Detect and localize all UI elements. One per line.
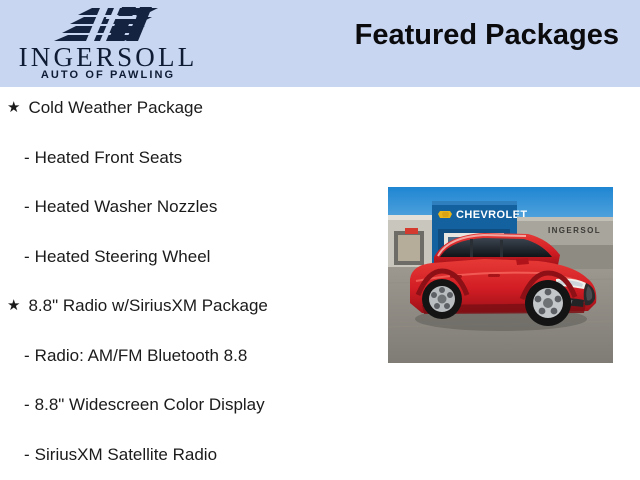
vehicle-photo[interactable]: CHEVROLET INGERSOL	[388, 187, 613, 363]
feature-label: Heated Front Seats	[35, 146, 182, 170]
brand-logo[interactable]: INGERSOLL AUTO OF PAWLING	[0, 0, 215, 87]
feature-label: 8.8" Widescreen Color Display	[35, 393, 265, 417]
dash-bullet-icon: -	[24, 443, 30, 467]
svg-text:CHEVROLET: CHEVROLET	[456, 209, 527, 221]
dash-bullet-icon: -	[24, 195, 30, 219]
feature-label: 8.8" Radio w/SiriusXM Package	[28, 294, 267, 318]
feature-label: SiriusXM Satellite Radio	[35, 443, 217, 467]
package-feature-item: -Heated Washer Nozzles	[24, 195, 217, 219]
package-feature-item: -Heated Front Seats	[24, 146, 182, 170]
package-feature-item: -SiriusXM Satellite Radio	[24, 443, 217, 467]
dash-bullet-icon: -	[24, 146, 30, 170]
ingersoll-wing-emblem-icon	[48, 6, 166, 42]
feature-label: Cold Weather Package	[28, 96, 203, 120]
feature-label: Heated Washer Nozzles	[35, 195, 218, 219]
dash-bullet-icon: -	[24, 245, 30, 269]
package-feature-item: -Radio: AM/FM Bluetooth 8.8	[24, 344, 247, 368]
feature-label: Heated Steering Wheel	[35, 245, 211, 269]
brand-tagline: AUTO OF PAWLING	[8, 70, 208, 81]
package-feature-item: -Heated Steering Wheel	[24, 245, 210, 269]
package-heading: ★8.8" Radio w/SiriusXM Package	[7, 294, 268, 318]
star-bullet-icon: ★	[7, 294, 20, 318]
brand-wordmark: INGERSOLL	[8, 44, 208, 71]
svg-text:INGERSOL: INGERSOL	[548, 226, 601, 235]
dash-bullet-icon: -	[24, 344, 30, 368]
page-title: Featured Packages	[355, 18, 619, 52]
package-heading: ★Cold Weather Package	[7, 96, 203, 120]
dash-bullet-icon: -	[24, 393, 30, 417]
package-feature-item: -8.8" Widescreen Color Display	[24, 393, 265, 417]
star-bullet-icon: ★	[7, 96, 20, 120]
page-header: INGERSOLL AUTO OF PAWLING Featured Packa…	[0, 0, 640, 87]
feature-label: Radio: AM/FM Bluetooth 8.8	[35, 344, 248, 368]
